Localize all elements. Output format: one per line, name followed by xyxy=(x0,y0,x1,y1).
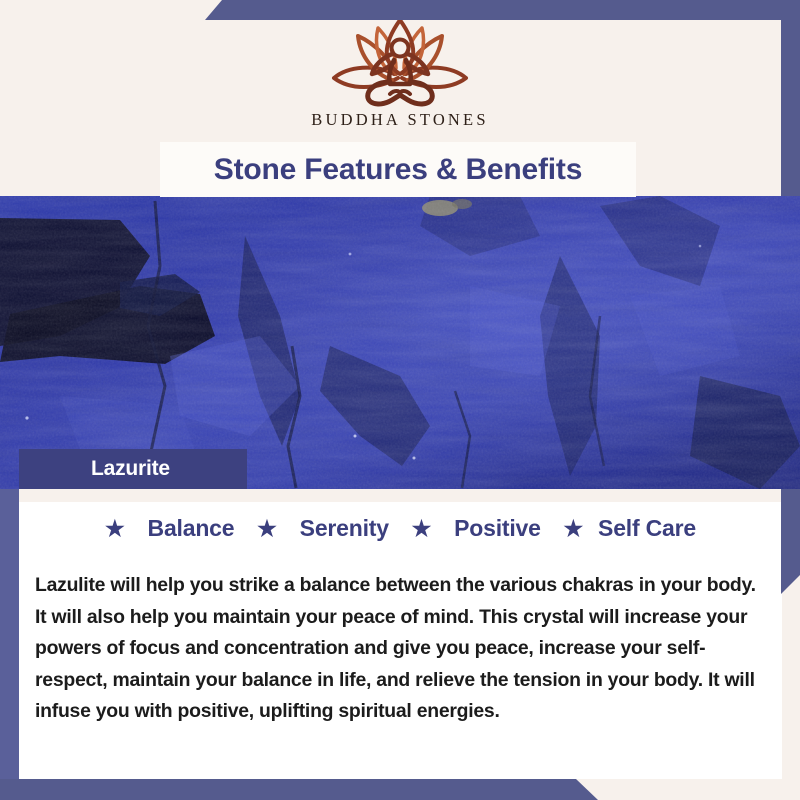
rock-texture-graphic xyxy=(0,196,800,489)
decor-edge-right-top xyxy=(781,0,800,196)
page-title: Stone Features & Benefits xyxy=(214,153,582,187)
decor-corner-bottom-left xyxy=(0,779,800,800)
lotus-meditation-logo-icon xyxy=(320,16,480,108)
stone-name-label: Lazurite xyxy=(19,457,170,481)
keyword-list: ★ Balance ★ Serenity ★ Positive ★ Self C… xyxy=(19,515,782,542)
star-icon-1: ★ xyxy=(257,516,277,541)
brand-logo: BUDDHA STONES xyxy=(0,16,800,130)
content-card: ★ Balance ★ Serenity ★ Positive ★ Self C… xyxy=(19,489,782,779)
keyword-positive: Positive xyxy=(454,515,541,541)
star-icon-2: ★ xyxy=(412,516,432,541)
lazurite-rock-photo xyxy=(0,196,800,489)
card-top-divider xyxy=(19,489,782,502)
keyword-self-care: Self Care xyxy=(598,515,696,541)
decor-edge-left-lower xyxy=(0,489,19,779)
title-banner: Stone Features & Benefits xyxy=(160,142,636,197)
stone-description: Lazulite will help you strike a balance … xyxy=(35,570,769,728)
stone-name-banner: Lazurite xyxy=(19,449,247,489)
keyword-serenity: Serenity xyxy=(300,515,389,541)
star-icon-3: ★ xyxy=(564,516,584,541)
star-icon-0: ★ xyxy=(105,516,125,541)
decor-edge-right-middle xyxy=(781,489,800,594)
poster-canvas: BUDDHA STONES Stone Features & Benefits … xyxy=(0,0,800,800)
keyword-balance: Balance xyxy=(148,515,235,541)
brand-name: BUDDHA STONES xyxy=(0,110,800,130)
